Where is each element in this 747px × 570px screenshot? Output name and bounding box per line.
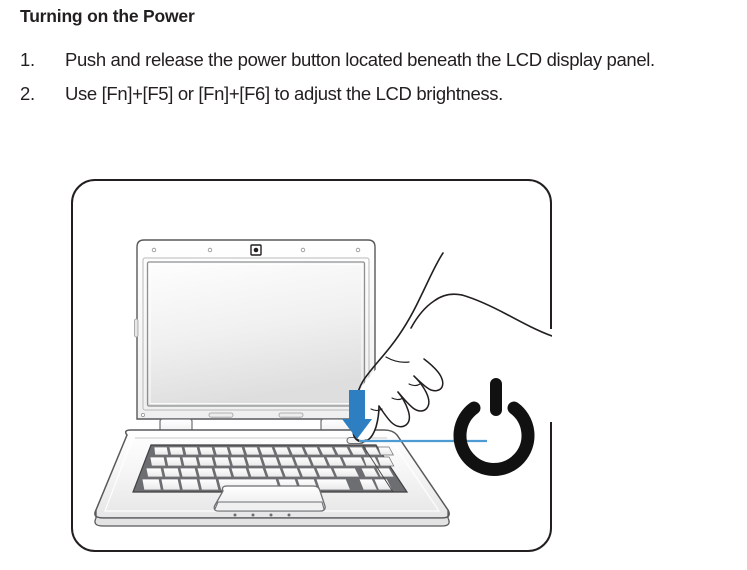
bezel-dot xyxy=(301,248,305,252)
step-number: 1. xyxy=(20,45,60,75)
step-text: Use [Fn]+[F5] or [Fn]+[F6] to adjust the… xyxy=(65,79,687,109)
lid-latch xyxy=(279,413,303,417)
laptop-illustration xyxy=(71,179,552,552)
laptop-base xyxy=(95,430,449,526)
numbered-step-list: 1. Push and release the power button loc… xyxy=(0,45,747,113)
bezel-dot xyxy=(356,248,360,252)
bezel-dot xyxy=(152,248,156,252)
lid-side-nub xyxy=(135,319,139,337)
lid-latch xyxy=(209,413,233,417)
touchpad[interactable] xyxy=(214,486,325,511)
list-item: 2. Use [Fn]+[F5] or [Fn]+[F6] to adjust … xyxy=(0,79,747,109)
bezel-dot xyxy=(208,248,212,252)
key-row xyxy=(146,468,360,477)
keyboard[interactable] xyxy=(133,445,407,492)
touchpad-buttons[interactable] xyxy=(215,502,324,511)
laptop-lid xyxy=(135,240,376,419)
lcd-screen xyxy=(148,262,365,406)
step-number: 2. xyxy=(20,79,60,109)
step-text: Push and release the power button locate… xyxy=(65,45,687,75)
illustration-figure xyxy=(71,179,552,552)
page-title: Turning on the Power xyxy=(20,7,195,26)
webcam-icon xyxy=(251,245,261,255)
list-item: 1. Push and release the power button loc… xyxy=(0,45,747,75)
